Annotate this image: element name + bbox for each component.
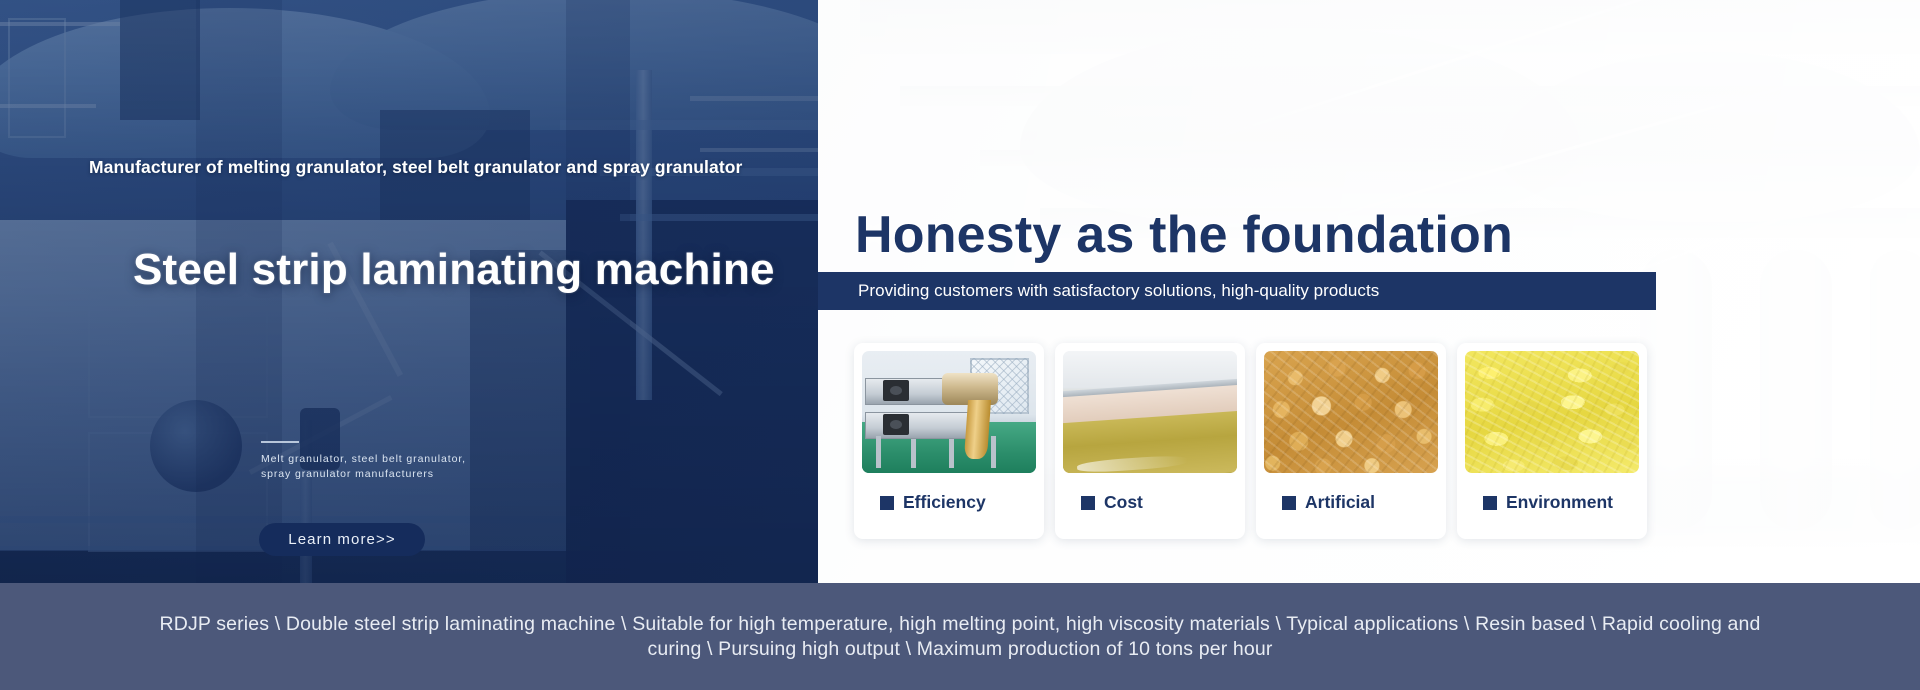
card-image-efficiency xyxy=(862,351,1036,473)
card-label-cost: Cost xyxy=(1063,492,1237,513)
square-bullet-icon xyxy=(1483,496,1497,510)
card-image-cost xyxy=(1063,351,1237,473)
square-bullet-icon xyxy=(1081,496,1095,510)
feature-card-efficiency[interactable]: Efficiency xyxy=(854,343,1044,539)
card-title-artificial: Artificial xyxy=(1305,492,1375,513)
hero-banner: Manufacturer of melting granulator, stee… xyxy=(0,0,1920,690)
feature-card-environment[interactable]: Environment xyxy=(1457,343,1647,539)
card-title-environment: Environment xyxy=(1506,492,1613,513)
card-title-efficiency: Efficiency xyxy=(903,492,986,513)
square-bullet-icon xyxy=(1282,496,1296,510)
feature-card-artificial[interactable]: Artificial xyxy=(1256,343,1446,539)
right-headline: Honesty as the foundation xyxy=(855,205,1513,265)
card-label-environment: Environment xyxy=(1465,492,1639,513)
bottom-strip-text: RDJP series \ Double steel strip laminat… xyxy=(130,612,1790,662)
card-label-artificial: Artificial xyxy=(1264,492,1438,513)
subtitle-bar: Providing customers with satisfactory so… xyxy=(818,272,1656,310)
bottom-feature-strip: RDJP series \ Double steel strip laminat… xyxy=(0,583,1920,690)
subtitle-bar-text: Providing customers with satisfactory so… xyxy=(858,281,1379,301)
card-image-environment xyxy=(1465,351,1639,473)
card-title-cost: Cost xyxy=(1104,492,1143,513)
card-image-artificial xyxy=(1264,351,1438,473)
square-bullet-icon xyxy=(880,496,894,510)
right-panel-copy: Honesty as the foundation Providing cust… xyxy=(0,0,1920,583)
card-label-efficiency: Efficiency xyxy=(862,492,1036,513)
banner-stage: Manufacturer of melting granulator, stee… xyxy=(0,0,1920,583)
feature-card-cost[interactable]: Cost xyxy=(1055,343,1245,539)
feature-card-list: Efficiency xyxy=(854,343,1654,539)
